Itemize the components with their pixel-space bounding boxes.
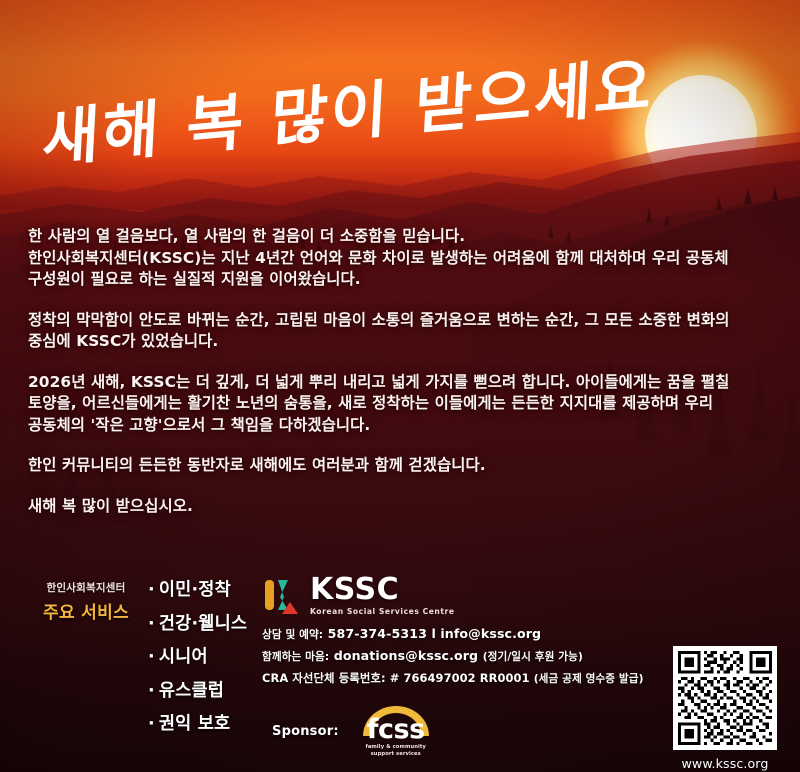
service-label: 시니어 [159,647,208,667]
list-item: ·건강·웰니스 [148,610,247,635]
sponsor-block: Sponsor: fcss family & community support… [272,704,439,758]
list-item: ·권익 보호 [148,710,247,735]
bullet-icon: · [148,614,155,634]
services-list: ·이민·정착 ·건강·웰니스 ·시니어 ·유스클럽 ·권익 보호 [148,576,247,744]
qr-code-icon [678,651,772,745]
phone-number[interactable]: 587-374-5313 [328,626,427,641]
contact-info: 상담 및 예약: 587-374-5313 l info@kssc.org 함께… [262,626,682,686]
fcss-logo: fcss family & community support services [353,704,439,758]
sponsor-label: Sponsor: [272,724,339,739]
cra-number: # 766497002 RR0001 [390,671,530,685]
cra-label: CRA 자선단체 등록번호: [262,671,386,685]
contact-phone-line: 상담 및 예약: 587-374-5313 l info@kssc.org [262,626,682,642]
greeting-paragraph-1: 한 사람의 열 걸음보다, 열 사람의 한 걸음이 더 소중함을 믿습니다. 한… [28,226,752,291]
kssc-wordmark: KSSC [310,576,455,605]
bullet-icon: · [148,580,155,600]
fcss-subtitle: family & community support services [353,744,439,758]
list-item: ·시니어 [148,643,247,668]
cra-note: (세금 공제 영수증 발급) [534,673,644,685]
email-address[interactable]: info@kssc.org [440,626,541,641]
greeting-paragraph-3: 2026년 새해, KSSC는 더 깊게, 더 넓게 뿌리 내리고 넓게 가지를… [28,372,752,437]
separator-icon: l [431,626,435,641]
kssc-tagline: Korean Social Services Centre [310,607,455,616]
list-item: ·이민·정착 [148,576,247,601]
contact-cra-line: CRA 자선단체 등록번호: # 766497002 RR0001 (세금 공제… [262,670,682,686]
greeting-body: 한 사람의 열 걸음보다, 열 사람의 한 걸음이 더 소중함을 믿습니다. 한… [28,226,752,517]
donation-label: 함께하는 마음: [262,651,329,663]
headline-calligraphy: 새해 복 많이 받으세요 [46,98,566,184]
greeting-paragraph-5: 새해 복 많이 받으십시오. [28,496,752,518]
services-heading-org: 한인사회복지센터 [30,580,142,595]
contact-donation-line: 함께하는 마음: donations@kssc.org (정기/일시 후원 가능… [262,648,682,664]
bullet-icon: · [148,647,155,667]
services-block: 한인사회복지센터 주요 서비스 ·이민·정착 ·건강·웰니스 ·시니어 ·유스클… [30,580,260,623]
kssc-logo: KSSC Korean Social Services Centre [262,576,682,616]
greeting-paragraph-2: 정착의 막막함이 안도로 바뀌는 순간, 고립된 마음이 소통의 즐거움으로 변… [28,310,752,353]
donation-email[interactable]: donations@kssc.org [334,648,478,663]
kssc-logo-mark-icon [262,578,302,614]
qr-block: www.kssc.org [673,646,777,771]
brand-contact-block: KSSC Korean Social Services Centre 상담 및 … [262,576,682,692]
donation-note: (정기/일시 후원 가능) [483,651,583,663]
services-heading-title: 주요 서비스 [30,598,142,623]
service-label: 이민·정착 [159,580,231,600]
service-label: 권익 보호 [159,714,231,734]
new-year-greeting-poster: 새해 복 많이 받으세요 한 사람의 열 걸음보다, 열 사람의 한 걸음이 더… [0,0,800,772]
greeting-paragraph-4: 한인 커뮤니티의 든든한 동반자로 새해에도 여러분과 함께 걷겠습니다. [28,455,752,477]
kssc-wordmark-group: KSSC Korean Social Services Centre [310,576,455,616]
bullet-icon: · [148,714,155,734]
qr-code[interactable] [673,646,777,750]
bullet-icon: · [148,681,155,701]
fcss-wordmark: fcss [353,716,439,743]
service-label: 유스클럽 [159,681,224,701]
services-heading: 한인사회복지센터 주요 서비스 [30,580,142,623]
website-url: www.kssc.org [673,756,777,771]
service-label: 건강·웰니스 [159,614,247,634]
list-item: ·유스클럽 [148,677,247,702]
phone-label: 상담 및 예약: [262,629,323,641]
